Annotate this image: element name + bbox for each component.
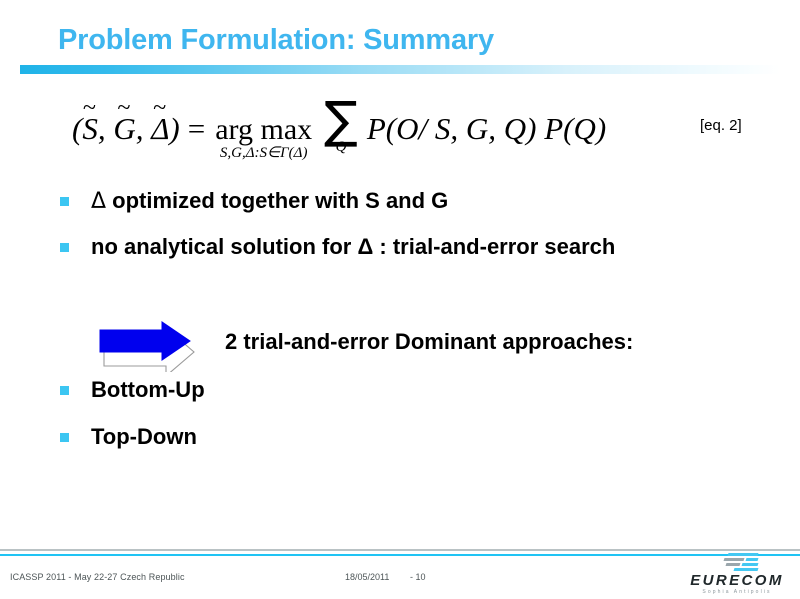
delta-symbol: Δ <box>91 189 106 214</box>
eq-sum-subscript: Q <box>336 140 347 155</box>
eq-var-delta-tilde: ~Δ <box>151 111 169 147</box>
equation-block: (~S, ~G, ~Δ) = arg max S,G,Δ:S∈Γ(Δ) ∑ Q … <box>72 96 692 168</box>
equation-number: [eq. 2] <box>700 117 742 134</box>
square-bullet-icon <box>60 243 69 252</box>
list-item-label: Bottom-Up <box>91 375 205 405</box>
eq-argmax-operator: arg max S,G,Δ:S∈Γ(Δ) <box>215 115 312 161</box>
page-title: Problem Formulation: Summary <box>58 24 494 57</box>
eurecom-tagline: Sophia Antipolis <box>681 590 793 595</box>
list-item-text: optimized together with S and G <box>106 188 448 213</box>
right-arrow-icon <box>92 320 202 372</box>
list-item: no analytical solution for Δ : trial-and… <box>60 232 615 262</box>
tilde-accent: ~ <box>83 96 96 120</box>
equation-right-hand-side: P(O/ S, G, Q) P(Q) <box>367 111 606 147</box>
list-item: Top-Down <box>60 422 197 452</box>
footer-date: 18/05/2011 <box>345 572 389 582</box>
footer-divider-gray <box>0 549 800 551</box>
slide-canvas: Problem Formulation: Summary (~S, ~G, ~Δ… <box>0 0 800 599</box>
footer-page-number: - 10 <box>410 572 426 582</box>
eq-paren-open: ( <box>72 111 82 146</box>
list-item-label: no analytical solution for Δ : trial-and… <box>91 232 615 262</box>
tilde-accent: ~ <box>153 96 166 120</box>
eq-equals-sign: = <box>180 111 215 147</box>
list-item-label: Top-Down <box>91 422 197 452</box>
square-bullet-icon <box>60 386 69 395</box>
list-item: Bottom-Up <box>60 375 205 405</box>
square-bullet-icon <box>60 197 69 206</box>
callout-caption: 2 trial-and-error Dominant approaches: <box>225 329 633 355</box>
eurecom-logo: EURECOM Sophia Antipolis <box>681 552 793 594</box>
eq-comma-1: , <box>98 111 114 146</box>
sigma-icon: ∑ <box>324 98 358 142</box>
list-item-label: Δ optimized together with S and G <box>91 186 448 217</box>
title-underline-gradient <box>20 65 780 74</box>
eq-comma-2: , <box>136 111 152 146</box>
footer-divider-cyan <box>0 554 800 556</box>
eurecom-mark-icon <box>714 552 760 572</box>
footer-conference-text: ICASSP 2011 - May 22-27 Czech Republic <box>10 572 185 582</box>
eq-var-g-tilde: ~G <box>113 111 135 147</box>
eurecom-wordmark: EURECOM <box>681 573 793 588</box>
eq-argmax-label: arg max <box>215 115 312 146</box>
tilde-accent: ~ <box>117 96 130 120</box>
equation-left-hand-side: (~S, ~G, ~Δ) <box>72 111 180 147</box>
eq-paren-close: ) <box>169 111 179 146</box>
eq-var-s-tilde: ~S <box>82 111 98 147</box>
eq-argmax-subscript: S,G,Δ:S∈Γ(Δ) <box>220 145 308 162</box>
list-item: Δ optimized together with S and G <box>60 186 448 217</box>
square-bullet-icon <box>60 433 69 442</box>
eq-summation-operator: ∑ Q <box>324 98 358 155</box>
